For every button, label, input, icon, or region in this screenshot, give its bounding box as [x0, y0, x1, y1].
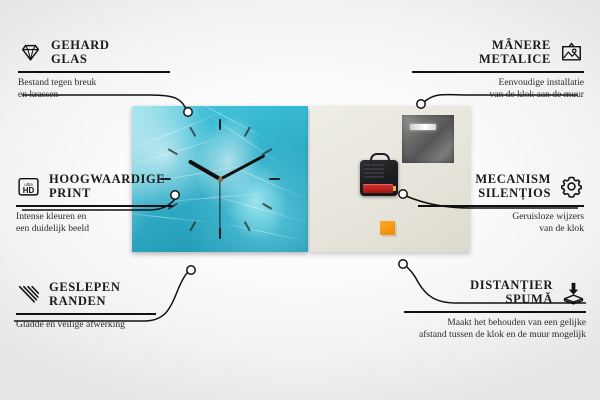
- feature-callout-mecanism-silentios: MECANISM SILENȚIOS Geruisloze wijzers va…: [418, 172, 584, 235]
- feature-title-line-2: GLAS: [51, 52, 109, 66]
- feature-subtitle-line-2: een duidelijk beeld: [16, 223, 191, 235]
- feature-callout-distantier-spuma: DISTANȚIER SPUMĂ Maakt het behouden van …: [404, 278, 586, 341]
- feature-title-line-2: PRINT: [49, 186, 165, 200]
- feature-title-line-2: METALICE: [479, 52, 551, 66]
- svg-text:HD: HD: [23, 185, 35, 194]
- leader-dot-geslepen-randen: [187, 266, 195, 274]
- infographic-canvas: GEHARD GLAS Bestand tegen breuk en krass…: [0, 0, 600, 400]
- feature-rule: [18, 71, 170, 73]
- feature-title-line-1: HOOGWAARDIGE: [49, 172, 165, 186]
- feature-title-line-2: RANDEN: [49, 294, 121, 308]
- feature-title-line-2: SILENȚIOS: [475, 186, 551, 200]
- feature-callout-gehard-glas: GEHARD GLAS Bestand tegen breuk en krass…: [18, 38, 188, 101]
- foam-spacer: [380, 221, 395, 235]
- clock-mechanism: [360, 160, 398, 196]
- feature-subtitle-line-1: Gladde en veilige afwerking: [16, 319, 188, 331]
- feature-subtitle-line-1: Geruisloze wijzers: [418, 211, 584, 223]
- feature-callout-hoogwaardige-print: ultra HD HOOGWAARDIGE PRINT Intense kleu…: [16, 172, 191, 235]
- diagonal-lines-icon: [16, 282, 41, 307]
- clock-center-hub: [218, 177, 223, 182]
- arrow-down-onto-pad-icon: [561, 280, 586, 305]
- feature-subtitle-line-2: van de klok aan de muur: [412, 89, 584, 101]
- gear-icon: [559, 174, 584, 199]
- feature-subtitle-line-1: Maakt het behouden van een gelijke: [404, 317, 586, 329]
- metal-hanger-plate: [402, 115, 454, 163]
- feature-rule: [404, 311, 586, 313]
- feature-rule: [16, 205, 173, 207]
- feature-subtitle-line-2: en krassen: [18, 89, 188, 101]
- aa-battery: [363, 184, 393, 193]
- feature-title-line-1: GEHARD: [51, 38, 109, 52]
- feature-subtitle-line-2: van de klok: [418, 223, 584, 235]
- feature-title-line-1: MECANISM: [475, 172, 551, 186]
- feature-subtitle-line-1: Intense kleuren en: [16, 211, 191, 223]
- feature-title-line-1: MÂNERE: [479, 38, 551, 52]
- feature-subtitle-line-1: Bestand tegen breuk: [18, 77, 188, 89]
- feature-title-line-2: SPUMĂ: [470, 292, 553, 306]
- feature-rule: [418, 205, 584, 207]
- feature-rule: [16, 313, 156, 315]
- feature-title-line-1: DISTANȚIER: [470, 278, 553, 292]
- leader-dot-distantier-spuma: [399, 260, 407, 268]
- feature-rule: [412, 71, 584, 73]
- mechanism-detail: [364, 164, 384, 178]
- feature-subtitle-line-2: afstand tussen de klok en de muur mogeli…: [404, 329, 586, 341]
- feature-callout-manere-metalice: MÂNERE METALICE Eenvoudige installatie v…: [412, 38, 584, 101]
- picture-hanger-icon: [559, 40, 584, 65]
- feature-title-line-1: GESLEPEN: [49, 280, 121, 294]
- ultra-hd-icon: ultra HD: [16, 174, 41, 199]
- diamond-icon: [18, 40, 43, 65]
- feature-callout-geslepen-randen: GESLEPEN RANDEN Gladde en veilige afwerk…: [16, 280, 188, 331]
- feature-subtitle-line-1: Eenvoudige installatie: [412, 77, 584, 89]
